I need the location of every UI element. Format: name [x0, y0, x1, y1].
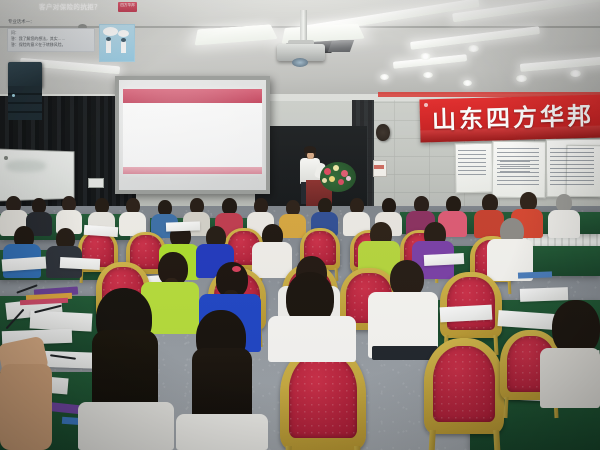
- presenter-hair: [304, 146, 316, 153]
- slide-title: 客户对保险的抗拒？: [24, 1, 116, 11]
- power-outlet: [88, 178, 104, 188]
- speech-bubble-icon: [103, 27, 118, 36]
- wall-clock-icon: [376, 124, 390, 141]
- wall-speaker: [8, 62, 42, 88]
- attendee-torso: [268, 316, 356, 362]
- banner-text: 山东四方华邦: [432, 99, 600, 138]
- poster-handwriting: [500, 160, 530, 176]
- presenter-face: [307, 152, 314, 159]
- recessed-downlight: [423, 72, 433, 78]
- exit-sign-label: [374, 165, 384, 169]
- handout-paper: [60, 257, 101, 270]
- flower: [333, 165, 339, 171]
- flower: [338, 179, 344, 185]
- whiteboard-magnet-icon: [4, 156, 8, 160]
- recessed-downlight: [468, 45, 479, 52]
- attendee-torso: [548, 210, 580, 238]
- recessed-downlight: [570, 70, 581, 77]
- slide-footer-band: [123, 167, 262, 174]
- attendee-torso: [540, 348, 600, 408]
- attendee-torso: [176, 414, 268, 450]
- attendee-torso: [78, 402, 174, 450]
- recessed-downlight: [420, 53, 431, 60]
- poster-handwriting: [458, 148, 486, 178]
- flower: [329, 176, 335, 182]
- seminar-photo-scene: 客户对保险的抗拒？ 四方华邦 专业话术一： 问： 答：我了解您的想法，其实…… …: [0, 0, 600, 450]
- handout-paper: [440, 305, 493, 323]
- speaker-led-icon: [12, 94, 15, 97]
- illustration-figure-head: [106, 37, 111, 41]
- speech-bubble-icon: [118, 30, 129, 37]
- recessed-downlight: [380, 74, 389, 80]
- recessed-downlight: [516, 75, 527, 82]
- flower: [346, 176, 351, 181]
- speaker-rack: [8, 86, 42, 120]
- illustration-figure: [106, 40, 111, 53]
- whiteboard: [0, 149, 74, 202]
- slide-logo-text: 四方华邦: [118, 3, 137, 8]
- air-vent-secondary: [328, 40, 354, 52]
- slide-body-line: 答：保险的意义在于转移风险。: [11, 42, 81, 48]
- presentation-slide: [123, 89, 262, 174]
- attendee-arm: [0, 364, 52, 450]
- banner-grommet: [424, 103, 428, 107]
- handout-paper: [424, 253, 465, 266]
- hair-tie: [232, 266, 241, 272]
- handout-paper: [520, 287, 568, 302]
- flower: [324, 168, 331, 175]
- slide-subtitle: 专业话术一：: [8, 19, 78, 25]
- whiteboard-smudge: [6, 160, 46, 172]
- poster-handwriting: [550, 146, 594, 188]
- flower: [322, 178, 327, 183]
- slide-title-bar: [123, 89, 262, 103]
- handout-paper: [166, 221, 200, 231]
- projector-lens-icon: [292, 58, 308, 67]
- notebook: [518, 271, 552, 278]
- banquet-chair: [424, 338, 504, 434]
- illustration-figure: [121, 41, 126, 53]
- illustration-figure-head: [121, 38, 126, 42]
- recessed-downlight: [463, 80, 472, 86]
